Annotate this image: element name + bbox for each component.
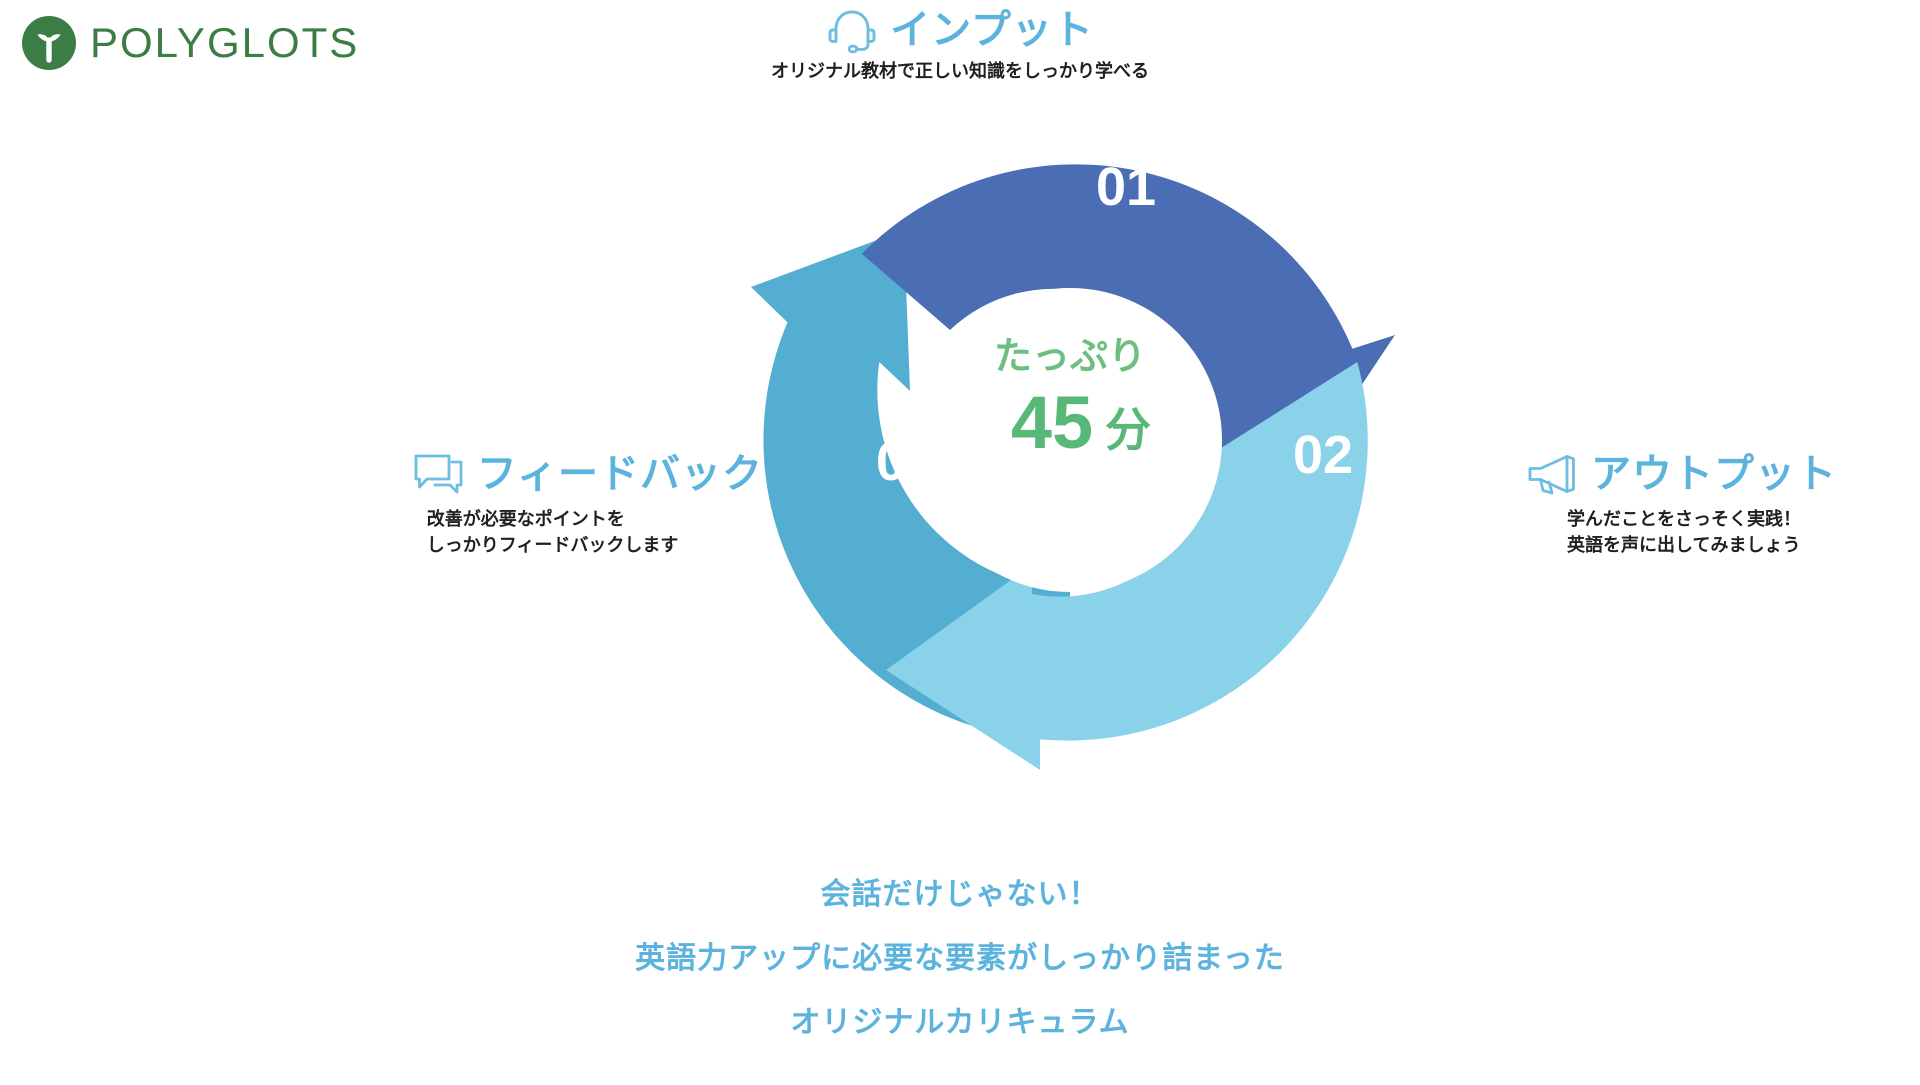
cycle-core-top-text: たっぷり xyxy=(994,336,1146,378)
speech-bubbles-icon xyxy=(413,452,465,496)
section-feedback-subtitle-line1: 改善が必要なポイントを xyxy=(427,506,763,532)
section-output-heading: アウトプット xyxy=(1527,452,1837,496)
section-output-subtitle: 学んだことをさっそく実践！ 英語を声に出してみましょう xyxy=(1567,506,1837,558)
footer-message: 会話だけじゃない！ 英語力アップに必要な要素がしっかり詰まった オリジナルカリキ… xyxy=(0,880,1920,1038)
section-feedback-subtitle-line2: しっかりフィードバックします xyxy=(427,532,763,558)
cycle-step-number-01: 01 xyxy=(1096,157,1156,217)
section-feedback-title: フィードバック xyxy=(477,452,763,496)
footer-line-3: オリジナルカリキュラム xyxy=(0,1008,1920,1038)
page-root: POLYGLOTS インプット オリジナル教材で正しい知識をしっかり学べる xyxy=(0,0,1920,1085)
cycle-core-unit: 分 xyxy=(1105,404,1151,456)
footer-line-2: 英語力アップに必要な要素がしっかり詰まった xyxy=(0,944,1920,974)
section-feedback: フィードバック 改善が必要なポイントを しっかりフィードバックします xyxy=(413,452,763,558)
section-feedback-subtitle: 改善が必要なポイントを しっかりフィードバックします xyxy=(427,506,763,558)
section-output-subtitle-line2: 英語を声に出してみましょう xyxy=(1567,532,1837,558)
section-output-subtitle-line1: 学んだことをさっそく実践！ xyxy=(1567,506,1837,532)
section-input: インプット オリジナル教材で正しい知識をしっかり学べる xyxy=(0,8,1920,84)
cycle-step-number-03: 03 xyxy=(876,432,936,492)
cycle-diagram: 01 02 03 たっぷり 45 分 xyxy=(740,110,1400,770)
headset-icon xyxy=(826,8,878,52)
section-input-subtitle: オリジナル教材で正しい知識をしっかり学べる xyxy=(0,58,1920,84)
megaphone-icon xyxy=(1527,452,1579,496)
section-output-title: アウトプット xyxy=(1591,452,1837,496)
section-input-title: インプット xyxy=(890,8,1094,52)
cycle-step-number-02: 02 xyxy=(1293,425,1353,485)
footer-line-1: 会話だけじゃない！ xyxy=(0,880,1920,910)
section-feedback-heading: フィードバック xyxy=(413,452,763,496)
section-input-heading: インプット xyxy=(0,8,1920,52)
cycle-core-amount: 45 xyxy=(1011,381,1093,464)
section-output: アウトプット 学んだことをさっそく実践！ 英語を声に出してみましょう xyxy=(1527,452,1837,558)
